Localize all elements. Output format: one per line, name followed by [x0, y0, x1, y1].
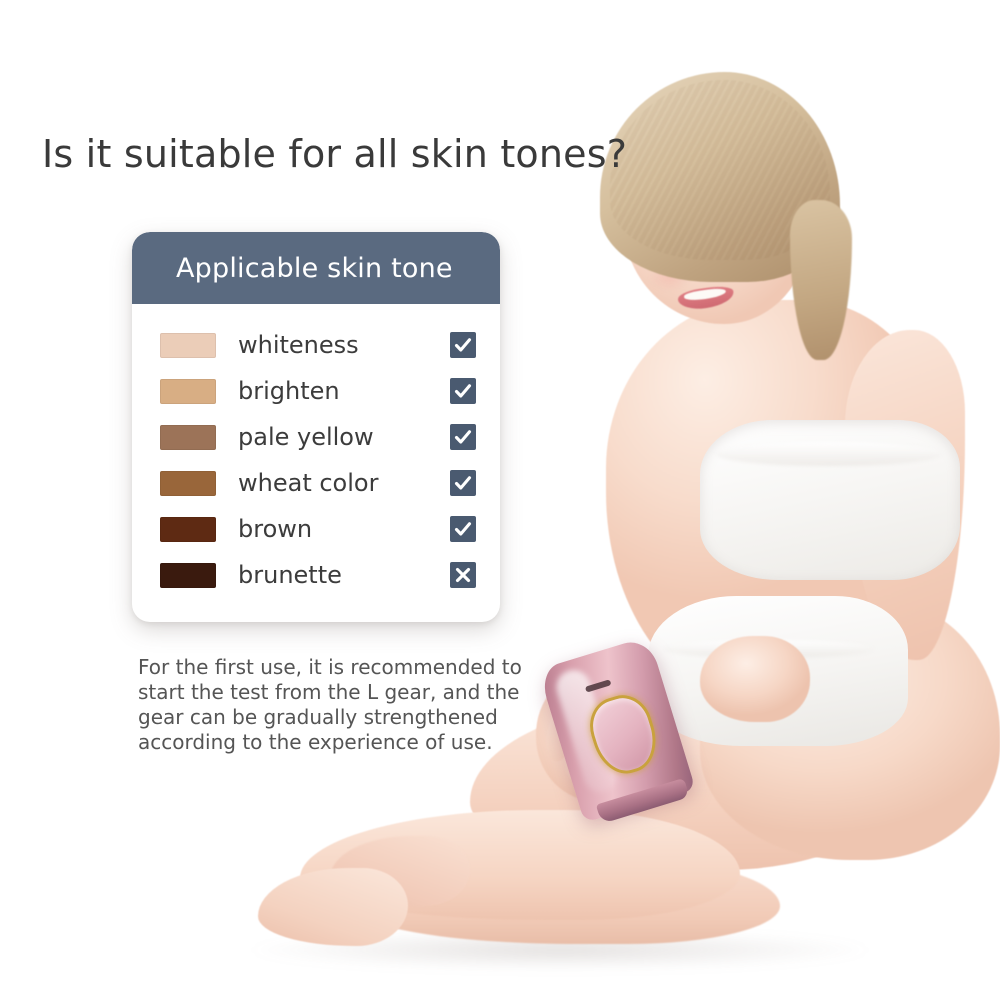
caption-line: For the first use, it is recommended to: [138, 655, 538, 680]
skin-tone-label: brown: [238, 515, 450, 543]
skin-tone-label: whiteness: [238, 331, 450, 359]
model-top-fold: [716, 442, 942, 466]
skin-tone-row[interactable]: brown: [132, 506, 500, 552]
skin-tone-label: brighten: [238, 377, 450, 405]
checkbox-checked-icon[interactable]: [450, 378, 476, 404]
card-header-title: Applicable skin tone: [176, 253, 453, 284]
skin-tone-swatch: [160, 563, 216, 588]
skin-tone-swatch: [160, 425, 216, 450]
skin-tone-label: wheat color: [238, 469, 450, 497]
card-header: Applicable skin tone: [132, 232, 500, 304]
skin-tone-label: pale yellow: [238, 423, 450, 451]
skin-tone-label: brunette: [238, 561, 450, 589]
skin-tone-row[interactable]: brunette: [132, 552, 500, 598]
skin-tone-list: whiteness brighten pale yellow wheat col…: [132, 304, 500, 598]
skin-tone-swatch: [160, 517, 216, 542]
caption-line: start the test from the L gear, and the: [138, 680, 538, 705]
caption-line: gear can be gradually strengthened: [138, 705, 538, 730]
skin-tone-row[interactable]: whiteness: [132, 322, 500, 368]
skin-tone-swatch: [160, 471, 216, 496]
checkbox-checked-icon[interactable]: [450, 470, 476, 496]
infographic-canvas: Is it suitable for all skin tones? Appli…: [0, 0, 1000, 1000]
skin-tone-row[interactable]: brighten: [132, 368, 500, 414]
checkbox-checked-icon[interactable]: [450, 424, 476, 450]
skin-tone-row[interactable]: pale yellow: [132, 414, 500, 460]
skin-tone-swatch: [160, 379, 216, 404]
applicable-skin-tone-card: Applicable skin tone whiteness brighten …: [132, 232, 500, 622]
model-hand-on-thigh: [700, 636, 810, 722]
checkbox-cross-icon[interactable]: [450, 562, 476, 588]
caption-line: according to the experience of use.: [138, 730, 538, 755]
checkbox-checked-icon[interactable]: [450, 516, 476, 542]
page-title: Is it suitable for all skin tones?: [42, 132, 627, 176]
checkbox-checked-icon[interactable]: [450, 332, 476, 358]
skin-tone-swatch: [160, 333, 216, 358]
usage-caption: For the first use, it is recommended to …: [138, 655, 538, 755]
skin-tone-row[interactable]: wheat color: [132, 460, 500, 506]
